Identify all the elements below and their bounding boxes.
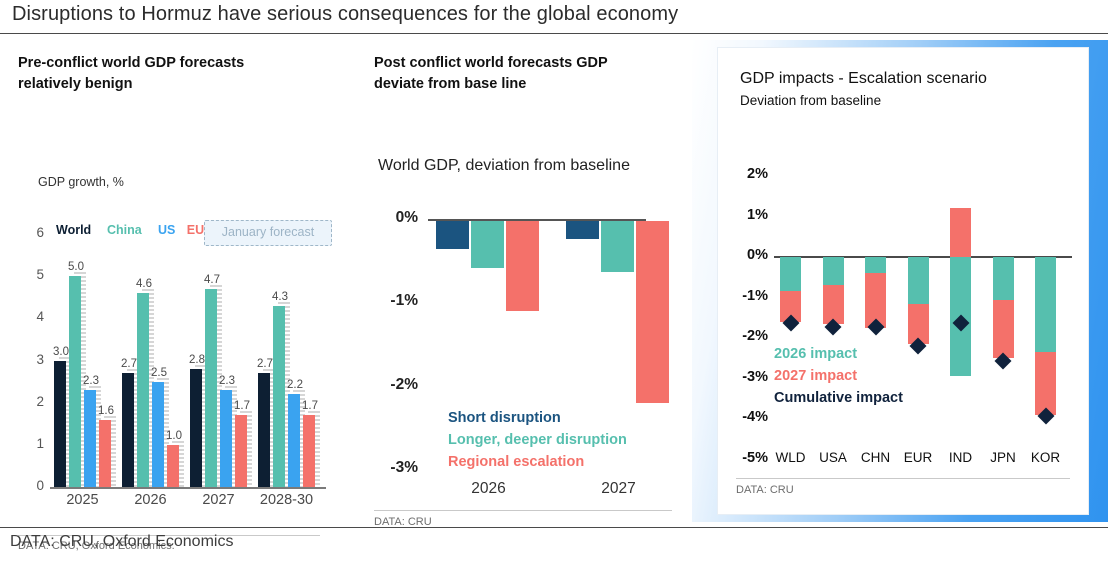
- chart1-y-tick: 0: [28, 478, 44, 493]
- chart1-bar: [54, 361, 66, 488]
- chart3-subtitle: Deviation from baseline: [740, 93, 881, 108]
- chart1-category-label: 2025: [44, 492, 121, 508]
- chart1-legend-item-eu: EU: [187, 223, 204, 237]
- chart3-y-tick: 1%: [718, 207, 768, 223]
- footer-source: DATA: CRU, Oxford Economics: [10, 533, 233, 551]
- chart3-bar-2026: [1035, 257, 1056, 352]
- chart1-bar-value: 2.3: [81, 375, 101, 387]
- panel-left-title: Pre-conflict world GDP forecasts relativ…: [18, 53, 244, 94]
- chart3-bar-2027: [1035, 352, 1056, 415]
- panel-middle-title-line1: Post conflict world forecasts GDP: [374, 55, 608, 71]
- chart1-y-tick: 2: [28, 394, 44, 409]
- chart1-y-tick: 6: [28, 225, 44, 240]
- chart3-title: GDP impacts - Escalation scenario: [740, 70, 987, 88]
- chart1-bar-value: 1.0: [164, 430, 184, 442]
- chart2-y-tick: -3%: [356, 459, 418, 477]
- chart1-y-tick: 3: [28, 352, 44, 367]
- chart1-bar: [122, 373, 134, 487]
- chart3-y-tick: 0%: [718, 247, 768, 263]
- chart1-bar-value: 2.7: [119, 358, 139, 370]
- panel-pre-conflict: Pre-conflict world GDP forecasts relativ…: [8, 40, 330, 522]
- chart3-source-rule: [736, 478, 1070, 479]
- chart1-bar-value: 2.5: [149, 367, 169, 379]
- chart1-category-label: 2027: [180, 492, 257, 508]
- chart1-bar-value: 5.0: [66, 261, 86, 273]
- chart1-bar: [220, 390, 232, 487]
- chart2-legend-item-0: Short disruption: [448, 410, 561, 426]
- footer-divider: [0, 527, 1108, 528]
- chart2-axis-title: World GDP, deviation from baseline: [378, 157, 630, 175]
- chart3-legend-item-2027: 2027 impact: [774, 368, 857, 384]
- chart1-legend-item-china: China: [107, 223, 142, 237]
- chart1-bar: [167, 445, 179, 487]
- chart1-bar-value: 1.7: [300, 400, 320, 412]
- chart3-y-tick: -2%: [718, 328, 768, 344]
- chart2-bar: [636, 221, 669, 403]
- chart2-legend-item-1: Longer, deeper disruption: [448, 432, 627, 448]
- chart3-y-tick: 2%: [718, 166, 768, 182]
- chart1-bar-value: 2.3: [217, 375, 237, 387]
- chart1-legend-item-us: US: [158, 223, 175, 237]
- chart3-category-label: EUR: [898, 450, 939, 465]
- chart1-bar-value: 4.3: [270, 291, 290, 303]
- chart1-bar: [288, 394, 300, 487]
- chart3-bar-2027: [950, 208, 971, 257]
- chart3-source: DATA: CRU: [736, 484, 794, 496]
- chart1-bar-value: 1.7: [232, 400, 252, 412]
- chart3-y-tick: -4%: [718, 409, 768, 425]
- chart1-bar: [137, 293, 149, 487]
- chart3-bar-2026: [823, 257, 844, 285]
- chart3-legend-item-2026: 2026 impact: [774, 346, 857, 362]
- january-forecast-badge: January forecast: [204, 220, 332, 246]
- chart3-category-label: WLD: [770, 450, 811, 465]
- chart1-bar-value: 4.6: [134, 278, 154, 290]
- chart1-bar: [190, 369, 202, 487]
- chart1-bar-value: 2.2: [285, 379, 305, 391]
- chart3-category-label: CHN: [855, 450, 896, 465]
- panel-left-title-line2: relatively benign: [18, 76, 132, 92]
- chart2-y-tick: -2%: [356, 376, 418, 394]
- chart3-bar-2026: [908, 257, 929, 304]
- chart3-legend-item-cumulative: Cumulative impact: [774, 390, 903, 406]
- chart1-bar: [69, 276, 81, 487]
- chart3-bar-2026: [993, 257, 1014, 300]
- chart2-bar: [601, 221, 634, 272]
- chart1-bar: [205, 289, 217, 487]
- chart1-bar: [303, 415, 315, 487]
- chart3-category-label: JPN: [983, 450, 1024, 465]
- panel-middle-title: Post conflict world forecasts GDP deviat…: [374, 53, 608, 94]
- january-forecast-label: January forecast: [205, 225, 331, 239]
- panel-middle-title-line2: deviate from base line: [374, 76, 526, 92]
- chart2-category-label: 2027: [556, 480, 681, 498]
- chart3-y-tick: -5%: [718, 450, 768, 466]
- chart1-y-tick: 5: [28, 267, 44, 282]
- chart2-category-label: 2026: [426, 480, 551, 498]
- page-header: Disruptions to Hormuz have serious conse…: [0, 0, 1108, 34]
- chart3-y-tick: -3%: [718, 369, 768, 385]
- chart1-y-tick: 4: [28, 309, 44, 324]
- chart2-y-tick: 0%: [356, 209, 418, 227]
- chart2-bar: [506, 221, 539, 311]
- chart1-bar-value: 3.0: [51, 346, 71, 358]
- panel-left-title-line1: Pre-conflict world GDP forecasts: [18, 55, 244, 71]
- chart1-legend-item-world: World: [56, 223, 91, 237]
- chart2-bar: [471, 221, 504, 268]
- chart2-source-rule: [374, 510, 672, 511]
- chart1-category-label: 2028-30: [248, 492, 325, 508]
- chart3-category-label: KOR: [1025, 450, 1066, 465]
- chart1-bar: [235, 415, 247, 487]
- panel-escalation: GDP impacts - Escalation scenario Deviat…: [718, 48, 1088, 514]
- chart3-bar-2027: [993, 300, 1014, 359]
- chart3-bar-2026: [780, 257, 801, 291]
- chart1-bar-value: 2.8: [187, 354, 207, 366]
- chart2-bar: [436, 221, 469, 249]
- chart1-category-label: 2026: [112, 492, 189, 508]
- chart1-bar-value: 2.7: [255, 358, 275, 370]
- chart1-bar: [99, 420, 111, 487]
- chart1-bar-value: 4.7: [202, 274, 222, 286]
- chart1-bar: [258, 373, 270, 487]
- chart1-baseline: [50, 487, 326, 489]
- chart2-bar: [566, 221, 599, 239]
- chart1-bar: [152, 382, 164, 487]
- chart3-bar-2026: [865, 257, 886, 273]
- page-title: Disruptions to Hormuz have serious conse…: [12, 3, 678, 26]
- panel-post-conflict: Post conflict world forecasts GDP deviat…: [356, 40, 686, 522]
- chart2-y-tick: -1%: [356, 292, 418, 310]
- chart1-axis-title: GDP growth, %: [38, 175, 124, 189]
- chart1-bar: [84, 390, 96, 487]
- chart3-y-tick: -1%: [718, 288, 768, 304]
- chart1-bar: [273, 306, 285, 487]
- chart1-bar-value: 1.6: [96, 405, 116, 417]
- chart3-category-label: USA: [813, 450, 854, 465]
- chart3-category-label: IND: [940, 450, 981, 465]
- chart1-y-tick: 1: [28, 436, 44, 451]
- chart2-legend-item-2: Regional escalation: [448, 454, 584, 470]
- header-divider: [0, 33, 1108, 34]
